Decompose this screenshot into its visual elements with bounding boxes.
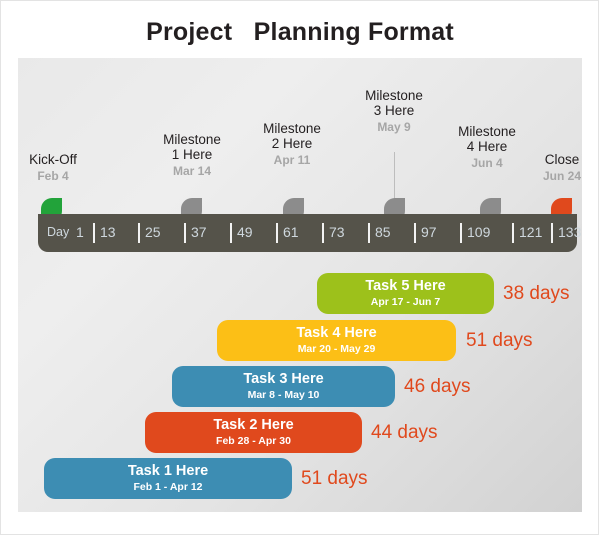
day-tick-label: 109: [467, 224, 490, 240]
day-tick-mark: [368, 223, 370, 243]
day-tick-mark: [138, 223, 140, 243]
day-tick-label: 97: [421, 224, 437, 240]
day-tick-label: 49: [237, 224, 253, 240]
milestone-label: Milestone 4 Here: [432, 124, 542, 154]
task-range: Apr 17 - Jun 7: [317, 295, 494, 309]
day-tick-label: 61: [283, 224, 299, 240]
day-tick-mark: [184, 223, 186, 243]
milestone-date: Mar 14: [137, 164, 247, 178]
task-name: Task 5 Here: [317, 277, 494, 295]
day-tick-label: 121: [519, 224, 542, 240]
task-range: Mar 20 - May 29: [217, 342, 456, 356]
milestone-kick-off[interactable]: Kick-Off Feb 4: [0, 152, 108, 183]
milestone-date: Feb 4: [0, 169, 108, 183]
day-tick-label: 133: [558, 224, 581, 240]
milestone-date: Apr 11: [237, 153, 347, 167]
day-tick-label: 37: [191, 224, 207, 240]
task-bar[interactable]: Task 2 Here Feb 28 - Apr 30: [145, 412, 362, 453]
day-tick-label: 85: [375, 224, 391, 240]
day-tick-label: 1: [76, 224, 84, 240]
task-duration: 51 days: [466, 320, 533, 361]
milestone-label: Milestone 1 Here: [137, 132, 247, 162]
milestone-date: Jun 24: [507, 169, 600, 183]
milestone-label: Close: [507, 152, 600, 167]
task-name: Task 4 Here: [217, 324, 456, 342]
day-tick-label: 13: [100, 224, 116, 240]
task-name: Task 3 Here: [172, 370, 395, 388]
task-name: Task 1 Here: [44, 462, 292, 480]
milestone-label: Milestone 2 Here: [237, 121, 347, 151]
day-tick-mark: [512, 223, 514, 243]
page-title: Project Planning Format: [0, 18, 600, 47]
milestone-label: Milestone 3 Here: [339, 88, 449, 118]
day-tick-label: 73: [329, 224, 345, 240]
task-range: Mar 8 - May 10: [172, 388, 395, 402]
day-tick-mark: [414, 223, 416, 243]
day-tick-mark: [230, 223, 232, 243]
task-name: Task 2 Here: [145, 416, 362, 434]
task-bar[interactable]: Task 4 Here Mar 20 - May 29: [217, 320, 456, 361]
day-tick-mark: [276, 223, 278, 243]
task-bar[interactable]: Task 3 Here Mar 8 - May 10: [172, 366, 395, 407]
task-bar[interactable]: Task 1 Here Feb 1 - Apr 12: [44, 458, 292, 499]
day-tick-mark: [93, 223, 95, 243]
milestone-label: Kick-Off: [0, 152, 108, 167]
milestone-close[interactable]: Close Jun 24: [507, 152, 600, 183]
task-duration: 44 days: [371, 412, 438, 453]
task-duration: 38 days: [503, 273, 570, 314]
task-range: Feb 28 - Apr 30: [145, 434, 362, 448]
day-tick-mark: [322, 223, 324, 243]
milestone-1[interactable]: Milestone 1 Here Mar 14: [137, 132, 247, 178]
day-scale-bar: Day 1 13 25 37 49 61 73 85 97 109 121 13…: [38, 214, 577, 252]
milestone-3-leader-line: [394, 152, 395, 200]
day-axis-label: Day: [47, 225, 69, 239]
task-bar[interactable]: Task 5 Here Apr 17 - Jun 7: [317, 273, 494, 314]
day-tick-label: 25: [145, 224, 161, 240]
task-range: Feb 1 - Apr 12: [44, 480, 292, 494]
day-tick-mark: [460, 223, 462, 243]
task-duration: 51 days: [301, 458, 368, 499]
task-duration: 46 days: [404, 366, 471, 407]
milestone-2[interactable]: Milestone 2 Here Apr 11: [237, 121, 347, 167]
day-tick-mark: [551, 223, 553, 243]
